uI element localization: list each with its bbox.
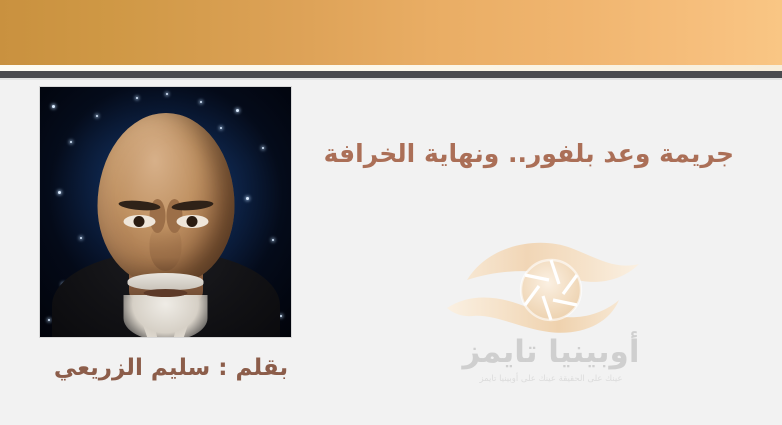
portrait-moustache xyxy=(128,273,204,290)
portrait-pupil-right xyxy=(134,216,145,227)
site-logo[interactable]: أوبينيا تايمز عينك على الحقيقة عينك على … xyxy=(443,238,659,398)
article-byline: بقلم : سليم الزريعي xyxy=(52,355,290,381)
logo-wordmark: أوبينيا تايمز xyxy=(443,334,659,370)
portrait-pupil-left xyxy=(187,216,198,227)
portrait-nose xyxy=(150,225,182,271)
logo-tagline: عينك على الحقيقة عينك على أوبينيا تايمز xyxy=(443,374,659,384)
article-headline: جريمة وعد بلفور.. ونهاية الخرافة xyxy=(334,138,734,169)
eye-aperture-icon xyxy=(443,238,659,338)
top-banner xyxy=(0,0,782,65)
portrait-face xyxy=(97,113,234,285)
portrait-eye-right xyxy=(123,215,155,228)
portrait-beard xyxy=(124,295,208,337)
article-card: جريمة وعد بلفور.. ونهاية الخرافة بقلم : … xyxy=(0,0,782,425)
banner-dark-rule xyxy=(0,71,782,78)
portrait-eye-left xyxy=(176,215,208,228)
banner-rule-shadow xyxy=(0,78,782,80)
portrait-mouth xyxy=(144,289,188,297)
author-portrait xyxy=(40,87,291,337)
